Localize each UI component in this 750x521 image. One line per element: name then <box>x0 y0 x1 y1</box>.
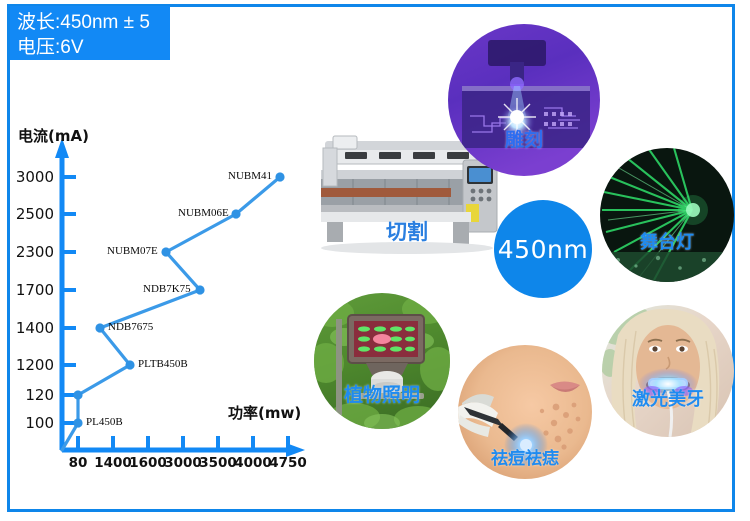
y-tick-label: 3000 <box>10 168 54 186</box>
data-point-label-ndb7675: NDB7675 <box>108 321 153 333</box>
data-point-label-ndb7k75: NDB7K75 <box>143 283 191 295</box>
spec-voltage: 电压:6V <box>17 35 170 60</box>
y-tick-label: 100 <box>10 414 54 432</box>
data-point-label-nubm41: NUBM41 <box>228 170 272 182</box>
application-photo-plant: 植物照明 <box>314 293 450 429</box>
laser-engraving-illustration <box>448 24 600 176</box>
data-point-label-pl450b: PL450B <box>86 416 123 428</box>
y-tick-label: 2300 <box>10 243 54 261</box>
application-photo-teeth: 激光美牙 <box>602 305 734 437</box>
x-tick-label: 4750 <box>265 455 311 471</box>
teeth-whitening-illustration <box>602 305 734 437</box>
plant-grow-light-illustration <box>314 293 450 429</box>
y-axis-title: 电流(mA) <box>18 125 89 146</box>
data-point-label-nubm06e: NUBM06E <box>178 207 229 219</box>
application-caption-engrave: 雕刻 <box>448 125 600 152</box>
application-photo-stage: 舞台灯 <box>600 148 734 282</box>
data-point-label-nubm07e: NUBM07E <box>107 245 158 257</box>
wavelength-bubble: 450nm <box>494 200 592 298</box>
page-root: 波长:450nm ± 5 电压:6V 电流(mA) 功率(mw) <box>0 0 750 521</box>
y-tick-label: 120 <box>10 386 54 404</box>
application-caption-teeth: 激光美牙 <box>602 385 734 411</box>
stage-laser-illustration <box>600 148 734 282</box>
data-point-label-pltb450b: PLTB450B <box>138 358 188 370</box>
spec-badge: 波长:450nm ± 5 电压:6V <box>10 6 170 60</box>
application-caption-stage: 舞台灯 <box>600 228 734 254</box>
x-axis-title: 功率(mw) <box>228 402 301 423</box>
application-caption-acne: 祛痘祛痣 <box>458 444 592 469</box>
y-tick-label: 2500 <box>10 205 54 223</box>
y-tick-label: 1700 <box>10 281 54 299</box>
application-caption-cut: 切割 <box>303 216 511 246</box>
power-current-chart: 电流(mA) 功率(mw) <box>0 110 310 470</box>
wavelength-bubble-label: 450nm <box>498 235 588 264</box>
application-caption-plant: 植物照明 <box>314 380 450 407</box>
y-tick-label: 1400 <box>10 319 54 337</box>
spec-wavelength: 波长:450nm ± 5 <box>17 10 170 35</box>
y-tick-label: 1200 <box>10 356 54 374</box>
application-photo-acne: 祛痘祛痣 <box>458 345 592 479</box>
application-photo-engrave: 雕刻 <box>448 24 600 176</box>
